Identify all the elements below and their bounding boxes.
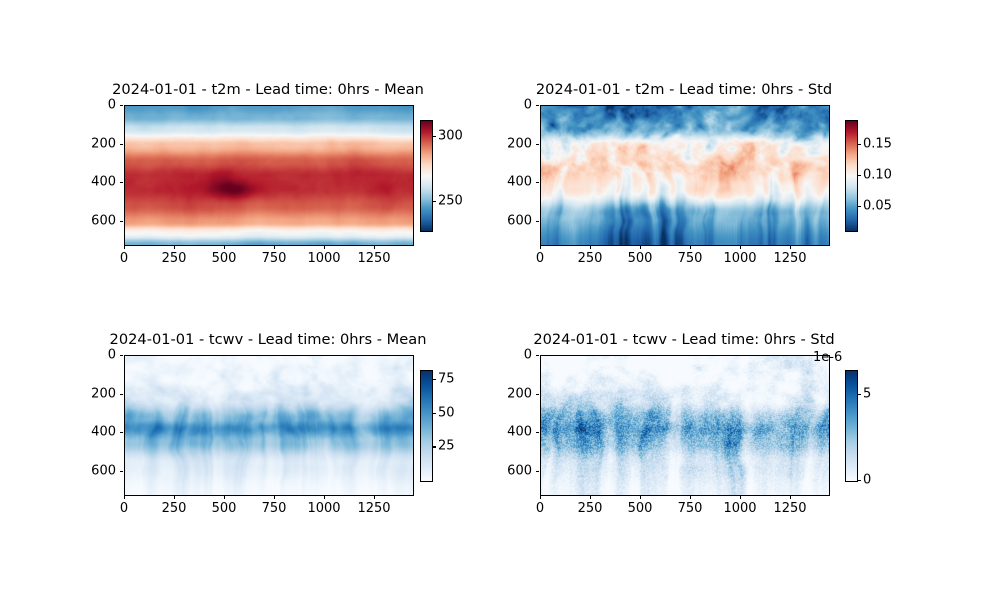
xtick-mark (274, 495, 275, 499)
xtick-mark (540, 245, 541, 249)
xtick-label: 250 (578, 251, 603, 266)
xtick-mark (274, 245, 275, 249)
ytick-mark (536, 144, 540, 145)
ytick-label: 0 (64, 98, 116, 113)
xtick-mark (690, 245, 691, 249)
ytick-label: 200 (480, 136, 532, 151)
xtick-label: 500 (212, 501, 237, 516)
colorbar-tcwv-std: 051e-6 (845, 370, 856, 480)
xtick-label: 750 (262, 501, 287, 516)
panel-title-t2m-std: 2024-01-01 - t2m - Lead time: 0hrs - Std (536, 81, 832, 98)
heatmap-image-t2m-mean (125, 106, 413, 245)
ytick-label: 400 (64, 425, 116, 440)
ytick-label: 200 (64, 386, 116, 401)
ytick-label: 400 (64, 175, 116, 190)
colorbar-tick-mark (857, 206, 861, 207)
xtick-label: 0 (120, 251, 128, 266)
xtick-mark (640, 495, 641, 499)
xtick-label: 250 (578, 501, 603, 516)
ytick-mark (120, 394, 124, 395)
xtick-mark (740, 495, 741, 499)
ytick-mark (536, 432, 540, 433)
xtick-mark (374, 245, 375, 249)
colorbar-gradient-tcwv-std (845, 370, 858, 482)
colorbar-t2m-std: 0.050.100.15 (845, 120, 856, 230)
ytick-label: 600 (64, 463, 116, 478)
xtick-label: 1000 (723, 251, 756, 266)
ytick-mark (120, 471, 124, 472)
colorbar-tick-label: 75 (438, 372, 455, 387)
colorbar-tick-label: 50 (438, 405, 455, 420)
heatmap-image-tcwv-std (541, 356, 829, 495)
heatmap-image-t2m-std (541, 106, 829, 245)
xtick-mark (374, 495, 375, 499)
xtick-label: 250 (162, 251, 187, 266)
ytick-label: 200 (64, 136, 116, 151)
ytick-label: 0 (480, 98, 532, 113)
ytick-label: 600 (480, 213, 532, 228)
xtick-label: 500 (212, 251, 237, 266)
xtick-label: 1250 (357, 501, 390, 516)
xtick-mark (174, 495, 175, 499)
ytick-label: 200 (480, 386, 532, 401)
ytick-label: 0 (64, 348, 116, 363)
xtick-mark (790, 245, 791, 249)
panel-tcwv-mean: 2024-01-01 - tcwv - Lead time: 0hrs - Me… (124, 355, 412, 494)
ytick-mark (536, 471, 540, 472)
xtick-mark (790, 495, 791, 499)
ytick-mark (536, 394, 540, 395)
ytick-mark (120, 105, 124, 106)
xtick-mark (640, 245, 641, 249)
colorbar-offset-text: 1e-6 (813, 350, 842, 365)
xtick-mark (124, 495, 125, 499)
ytick-mark (120, 355, 124, 356)
colorbar-tick-label: 300 (438, 128, 463, 143)
ytick-label: 0 (480, 348, 532, 363)
colorbar-tick-mark (432, 136, 436, 137)
xtick-mark (224, 495, 225, 499)
xtick-label: 1000 (307, 501, 340, 516)
xtick-mark (590, 245, 591, 249)
colorbar-tick-label: 5 (863, 387, 871, 402)
panel-title-t2m-mean: 2024-01-01 - t2m - Lead time: 0hrs - Mea… (112, 81, 424, 98)
colorbar-tcwv-mean: 255075 (420, 370, 431, 480)
colorbar-t2m-mean: 250300 (420, 120, 431, 230)
ytick-mark (536, 221, 540, 222)
xtick-mark (540, 495, 541, 499)
ytick-mark (536, 182, 540, 183)
panel-title-tcwv-mean: 2024-01-01 - tcwv - Lead time: 0hrs - Me… (110, 331, 427, 348)
heatmap-image-tcwv-mean (125, 356, 413, 495)
xtick-label: 1250 (773, 251, 806, 266)
colorbar-tick-mark (432, 413, 436, 414)
colorbar-tick-mark (857, 480, 861, 481)
ytick-label: 600 (480, 463, 532, 478)
axes-t2m-mean (124, 105, 414, 246)
xtick-label: 1250 (773, 501, 806, 516)
ytick-mark (120, 432, 124, 433)
panel-t2m-std: 2024-01-01 - t2m - Lead time: 0hrs - Std… (540, 105, 828, 244)
colorbar-tick-mark (432, 446, 436, 447)
panel-title-tcwv-std: 2024-01-01 - tcwv - Lead time: 0hrs - St… (533, 331, 834, 348)
colorbar-gradient-tcwv-mean (420, 370, 433, 482)
xtick-label: 500 (628, 501, 653, 516)
axes-tcwv-std (540, 355, 830, 496)
ytick-mark (536, 105, 540, 106)
colorbar-tick-label: 25 (438, 439, 455, 454)
figure-canvas: 2024-01-01 - t2m - Lead time: 0hrs - Mea… (0, 0, 1000, 600)
xtick-mark (324, 245, 325, 249)
xtick-label: 500 (628, 251, 653, 266)
colorbar-tick-mark (432, 379, 436, 380)
colorbar-tick-label: 0.10 (863, 168, 892, 183)
ytick-label: 600 (64, 213, 116, 228)
colorbar-tick-label: 250 (438, 194, 463, 209)
colorbar-tick-mark (432, 201, 436, 202)
colorbar-tick-mark (857, 175, 861, 176)
xtick-mark (690, 495, 691, 499)
xtick-label: 1000 (723, 501, 756, 516)
ytick-mark (120, 221, 124, 222)
colorbar-tick-label: 0.15 (863, 137, 892, 152)
xtick-mark (174, 245, 175, 249)
xtick-mark (740, 245, 741, 249)
xtick-label: 0 (120, 501, 128, 516)
colorbar-tick-label: 0.05 (863, 198, 892, 213)
xtick-label: 250 (162, 501, 187, 516)
xtick-label: 750 (678, 501, 703, 516)
axes-t2m-std (540, 105, 830, 246)
xtick-label: 0 (536, 501, 544, 516)
xtick-mark (590, 495, 591, 499)
panel-tcwv-std: 2024-01-01 - tcwv - Lead time: 0hrs - St… (540, 355, 828, 494)
ytick-mark (536, 355, 540, 356)
axes-tcwv-mean (124, 355, 414, 496)
colorbar-tick-mark (857, 394, 861, 395)
xtick-mark (224, 245, 225, 249)
xtick-label: 0 (536, 251, 544, 266)
xtick-mark (124, 245, 125, 249)
panel-t2m-mean: 2024-01-01 - t2m - Lead time: 0hrs - Mea… (124, 105, 412, 244)
ytick-label: 400 (480, 425, 532, 440)
xtick-label: 1000 (307, 251, 340, 266)
xtick-mark (324, 495, 325, 499)
colorbar-gradient-t2m-mean (420, 120, 433, 232)
colorbar-tick-mark (857, 144, 861, 145)
colorbar-tick-label: 0 (863, 473, 871, 488)
xtick-label: 750 (262, 251, 287, 266)
xtick-label: 1250 (357, 251, 390, 266)
ytick-mark (120, 144, 124, 145)
ytick-mark (120, 182, 124, 183)
ytick-label: 400 (480, 175, 532, 190)
xtick-label: 750 (678, 251, 703, 266)
